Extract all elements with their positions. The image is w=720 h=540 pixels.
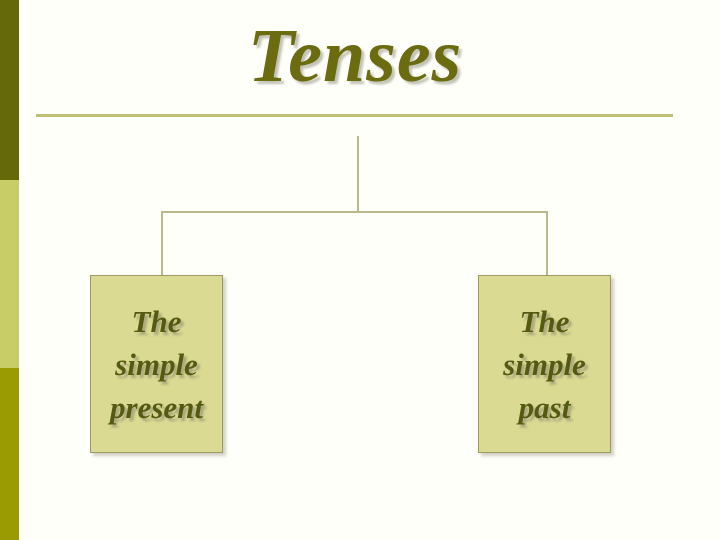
connector-root-stem [357,136,359,212]
slide-title: Tenses [36,8,674,104]
diagram-node-label: The simple present [91,300,222,429]
connector-drop-left [161,211,163,276]
connector-horizontal-bar [161,211,548,213]
slide-canvas: Tenses The simple present The simple pas… [0,0,720,540]
diagram-node-simple-present: The simple present [90,275,223,453]
sidebar-band-top [0,0,19,180]
diagram-node-simple-past: The simple past [478,275,611,453]
sidebar-band-middle [0,180,19,368]
diagram-node-label: The simple past [479,300,610,429]
sidebar-band-bottom [0,368,19,540]
sidebar-decoration [0,0,19,540]
title-divider [36,114,673,117]
connector-drop-right [546,211,548,276]
